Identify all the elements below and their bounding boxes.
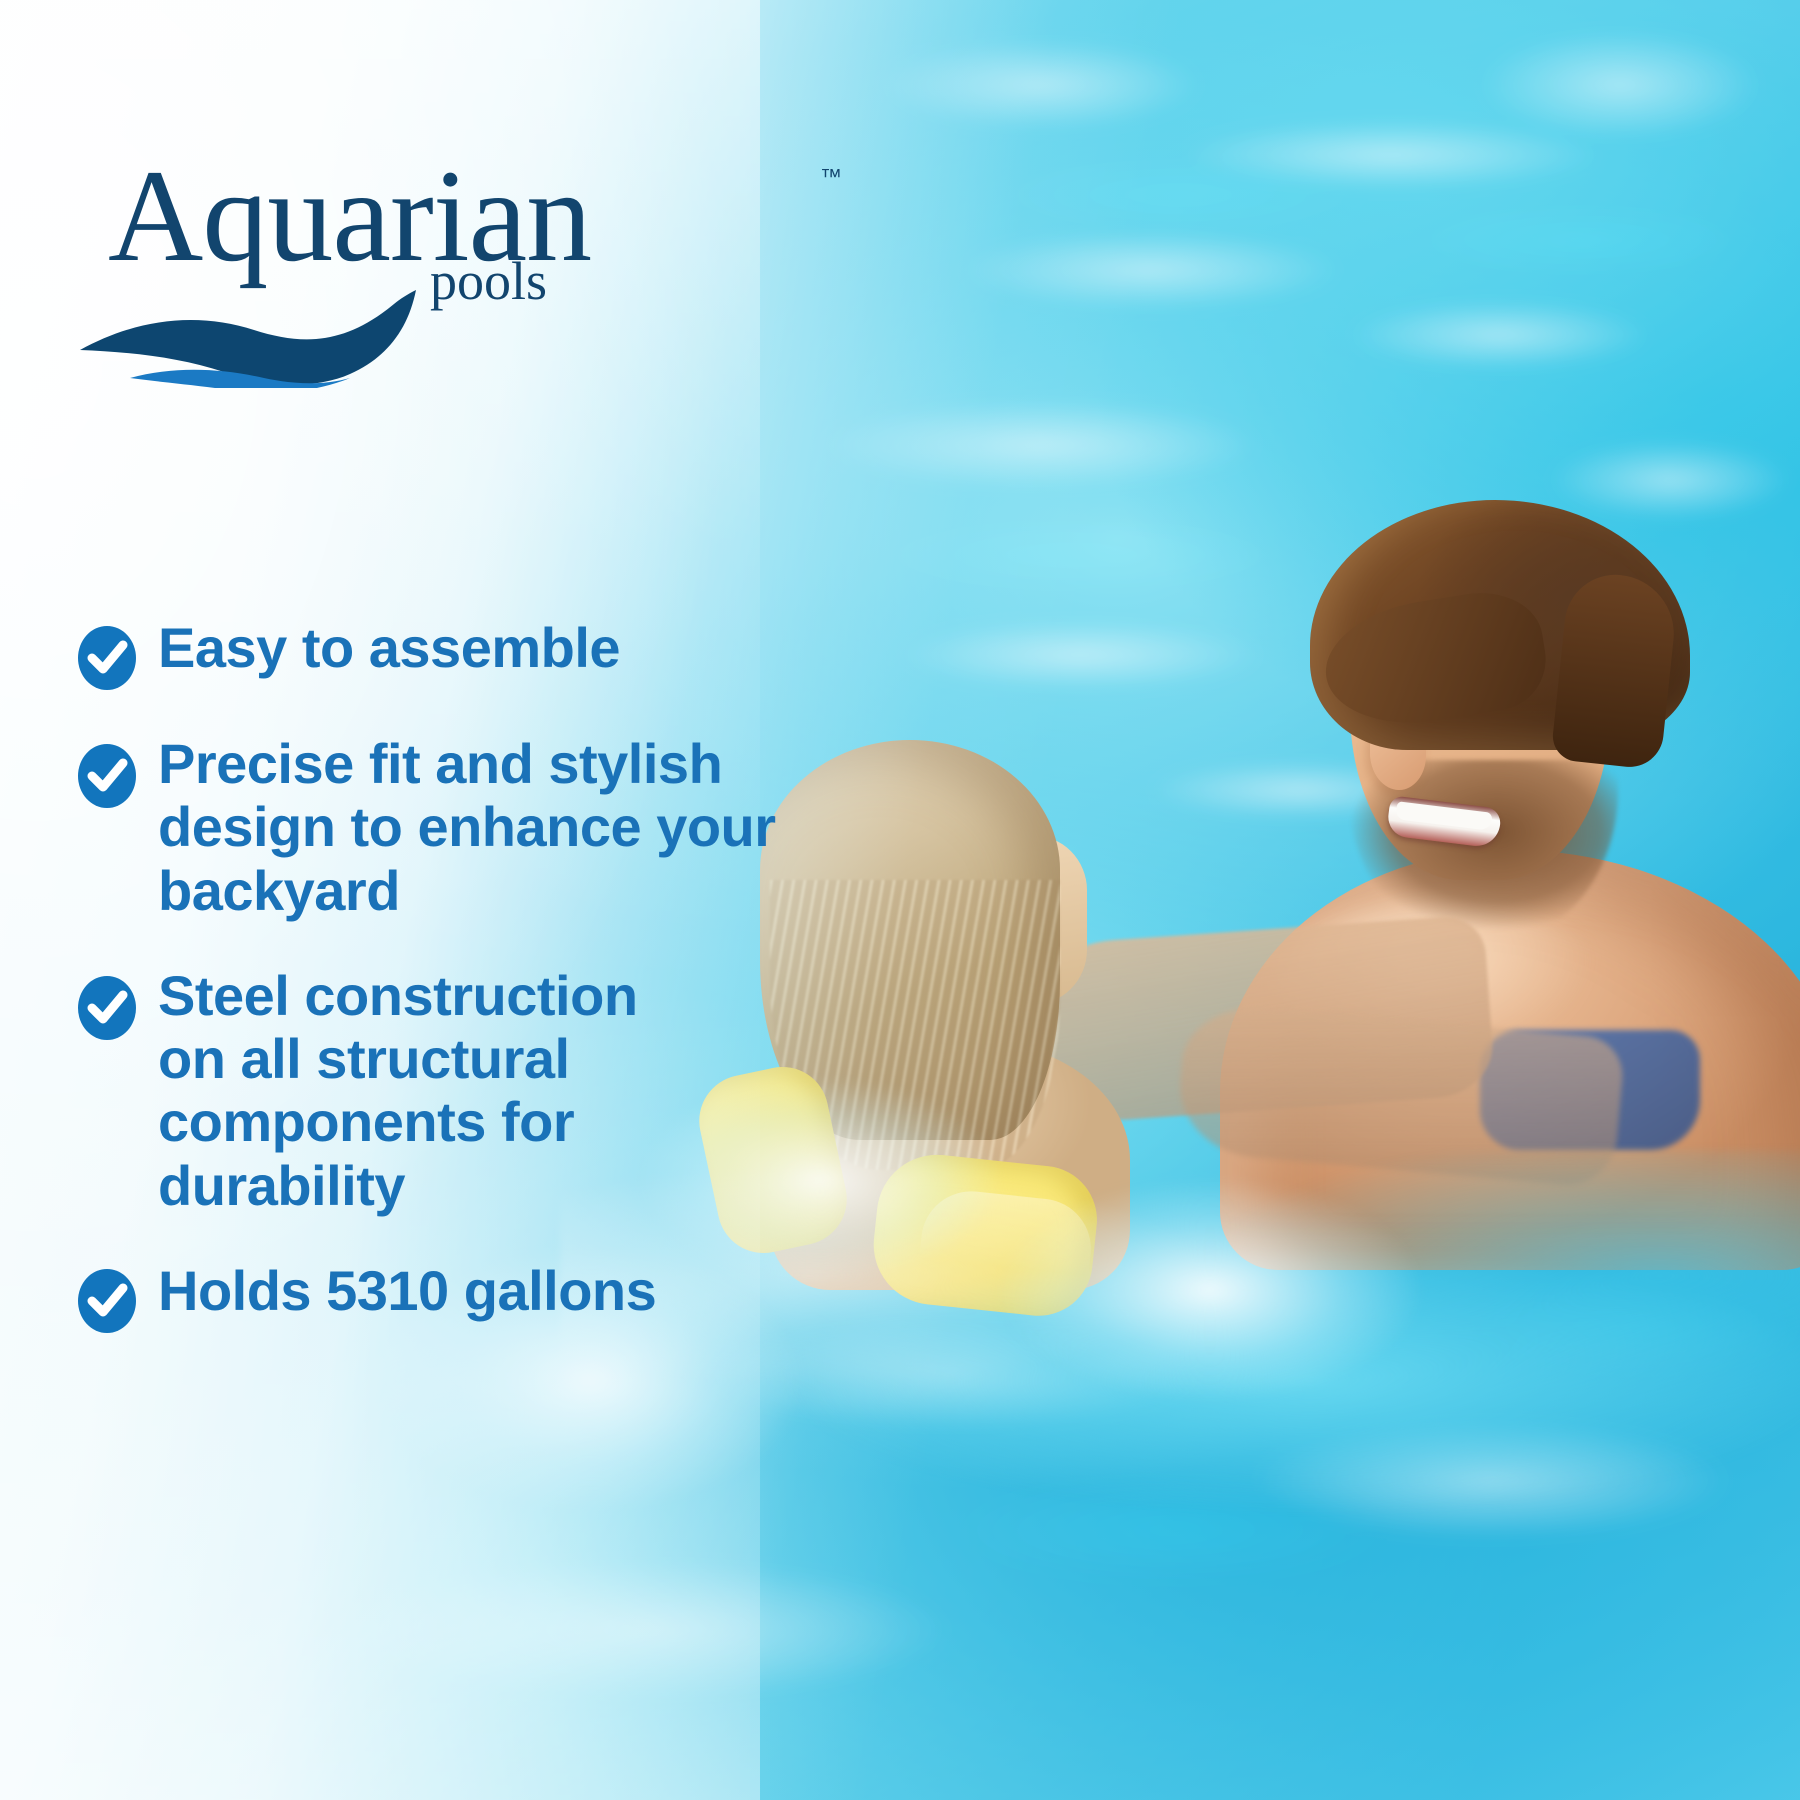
feature-label: Holds 5310 gallons [158,1259,656,1322]
feature-label: Steel construction on all structural com… [158,964,718,1217]
feature-list: Easy to assemble Precise fit and stylish… [78,616,818,1333]
check-circle-icon [78,976,136,1040]
list-item: Holds 5310 gallons [78,1259,818,1333]
feature-label: Precise fit and stylish design to enhanc… [158,732,798,922]
list-item: Steel construction on all structural com… [78,964,818,1217]
wave-swoosh-icon [78,268,428,388]
trademark-symbol: ™ [820,164,842,190]
check-circle-icon [78,744,136,808]
product-feature-banner: Aquarian ™ pools Easy to assemble [0,0,1800,1800]
brand-logo: Aquarian ™ pools [108,150,808,282]
brand-tagline: pools [430,254,547,308]
list-item: Precise fit and stylish design to enhanc… [78,732,818,922]
check-circle-icon [78,626,136,690]
list-item: Easy to assemble [78,616,818,690]
feature-label: Easy to assemble [158,616,620,679]
check-circle-icon [78,1269,136,1333]
